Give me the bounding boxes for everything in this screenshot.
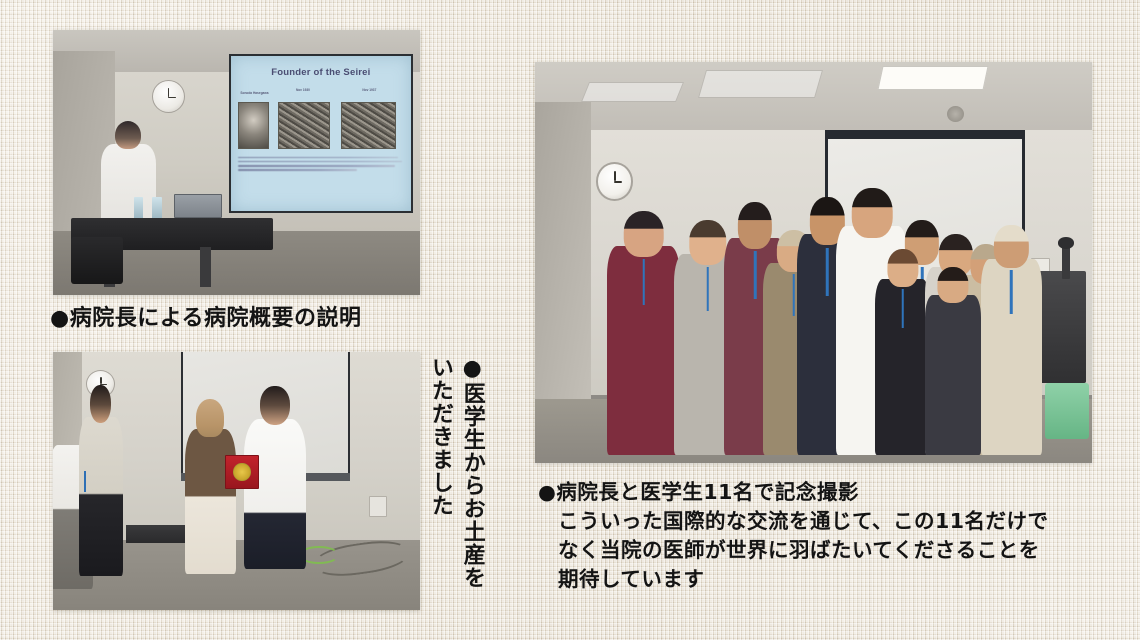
office-chair — [71, 237, 122, 285]
lanyard — [642, 259, 645, 305]
group-person — [925, 295, 981, 455]
projector-screen: Founder of the Seirei Sonoda Hasegawa No… — [229, 54, 413, 213]
water-bottle — [152, 197, 162, 218]
doctor-person — [244, 419, 306, 569]
slide-title: Founder of the Seirei — [231, 67, 411, 78]
power-outlet — [369, 496, 387, 517]
hospital-director-presentation-photo: Founder of the Seirei Sonoda Hasegawa No… — [53, 30, 420, 295]
group-person — [875, 279, 931, 455]
caption-group-line1: ●病院長と医学生11名で記念撮影 — [538, 478, 1138, 507]
lanyard — [84, 471, 86, 492]
lanyard — [754, 251, 757, 299]
caption-group-line4: 期待しています — [538, 565, 1138, 594]
group-person — [607, 246, 679, 455]
slide-text-line — [238, 161, 401, 163]
lanyard — [706, 267, 709, 311]
lanyard — [826, 248, 829, 297]
person-head — [852, 188, 893, 238]
slide-label-column2: Nov 1937 — [342, 88, 396, 92]
caption-group: ●病院長と医学生11名で記念撮影 こういった国際的な交流を通じて、この11名だけ… — [538, 478, 1138, 594]
group-person — [981, 259, 1042, 455]
slide-portrait-image — [238, 102, 269, 149]
desk-leg — [200, 247, 211, 287]
caption-lecture: ●病院長による病院概要の説明 — [50, 305, 362, 333]
caption-group-line3: なく当院の医師が世界に羽ばたいてくださることを — [538, 536, 1138, 565]
photo-content: Founder of the Seirei Sonoda Hasegawa No… — [53, 30, 420, 295]
ceiling-speaker — [947, 106, 964, 122]
microphone-stand — [1062, 242, 1070, 278]
slide-text-line — [238, 157, 398, 159]
person-head — [937, 267, 968, 302]
photo-content — [53, 352, 420, 610]
lanyard — [793, 274, 796, 316]
slide-text-line — [238, 169, 357, 171]
caption-group-line2: こういった国際的な交流を通じて、この11名だけで — [538, 507, 1138, 536]
ceiling-panel — [581, 82, 684, 102]
slide-label-column1: Nov 1930 — [280, 88, 327, 92]
table — [126, 525, 192, 543]
slide-historical-image-2 — [341, 102, 397, 149]
wall-left-column — [535, 102, 591, 423]
caption-souvenir-vertical: ●医学生からお土産を いただきました — [424, 356, 488, 606]
caption-souvenir-line2: いただきました — [424, 356, 456, 606]
medical-student-person — [185, 429, 236, 573]
person-head — [738, 202, 772, 250]
group-commemorative-photo — [535, 62, 1092, 463]
photo-content — [535, 62, 1092, 463]
person-head — [887, 249, 918, 288]
slide-label-name: Sonoda Hasegawa — [237, 91, 273, 95]
slide-body-text — [238, 157, 403, 200]
ceiling-light — [878, 66, 989, 90]
souvenir-handover-photo — [53, 352, 420, 610]
slide-historical-image-1 — [278, 102, 330, 149]
red-gift-box — [225, 455, 258, 489]
wall-clock-icon — [596, 162, 633, 200]
water-bottle — [134, 197, 144, 218]
person-head — [994, 225, 1028, 268]
lanyard — [1010, 270, 1013, 313]
green-chair — [1045, 383, 1090, 439]
caption-souvenir-line1: ●医学生からお土産を — [456, 356, 488, 606]
person-head — [689, 220, 726, 264]
person-head — [623, 211, 664, 257]
presentation-slide: Founder of the Seirei Sonoda Hasegawa No… — [0, 0, 1140, 640]
slide-text-line — [238, 165, 395, 167]
lanyard — [901, 289, 904, 328]
ceiling-panel — [698, 70, 823, 98]
bystander-person — [79, 417, 123, 577]
laptop — [174, 194, 222, 218]
